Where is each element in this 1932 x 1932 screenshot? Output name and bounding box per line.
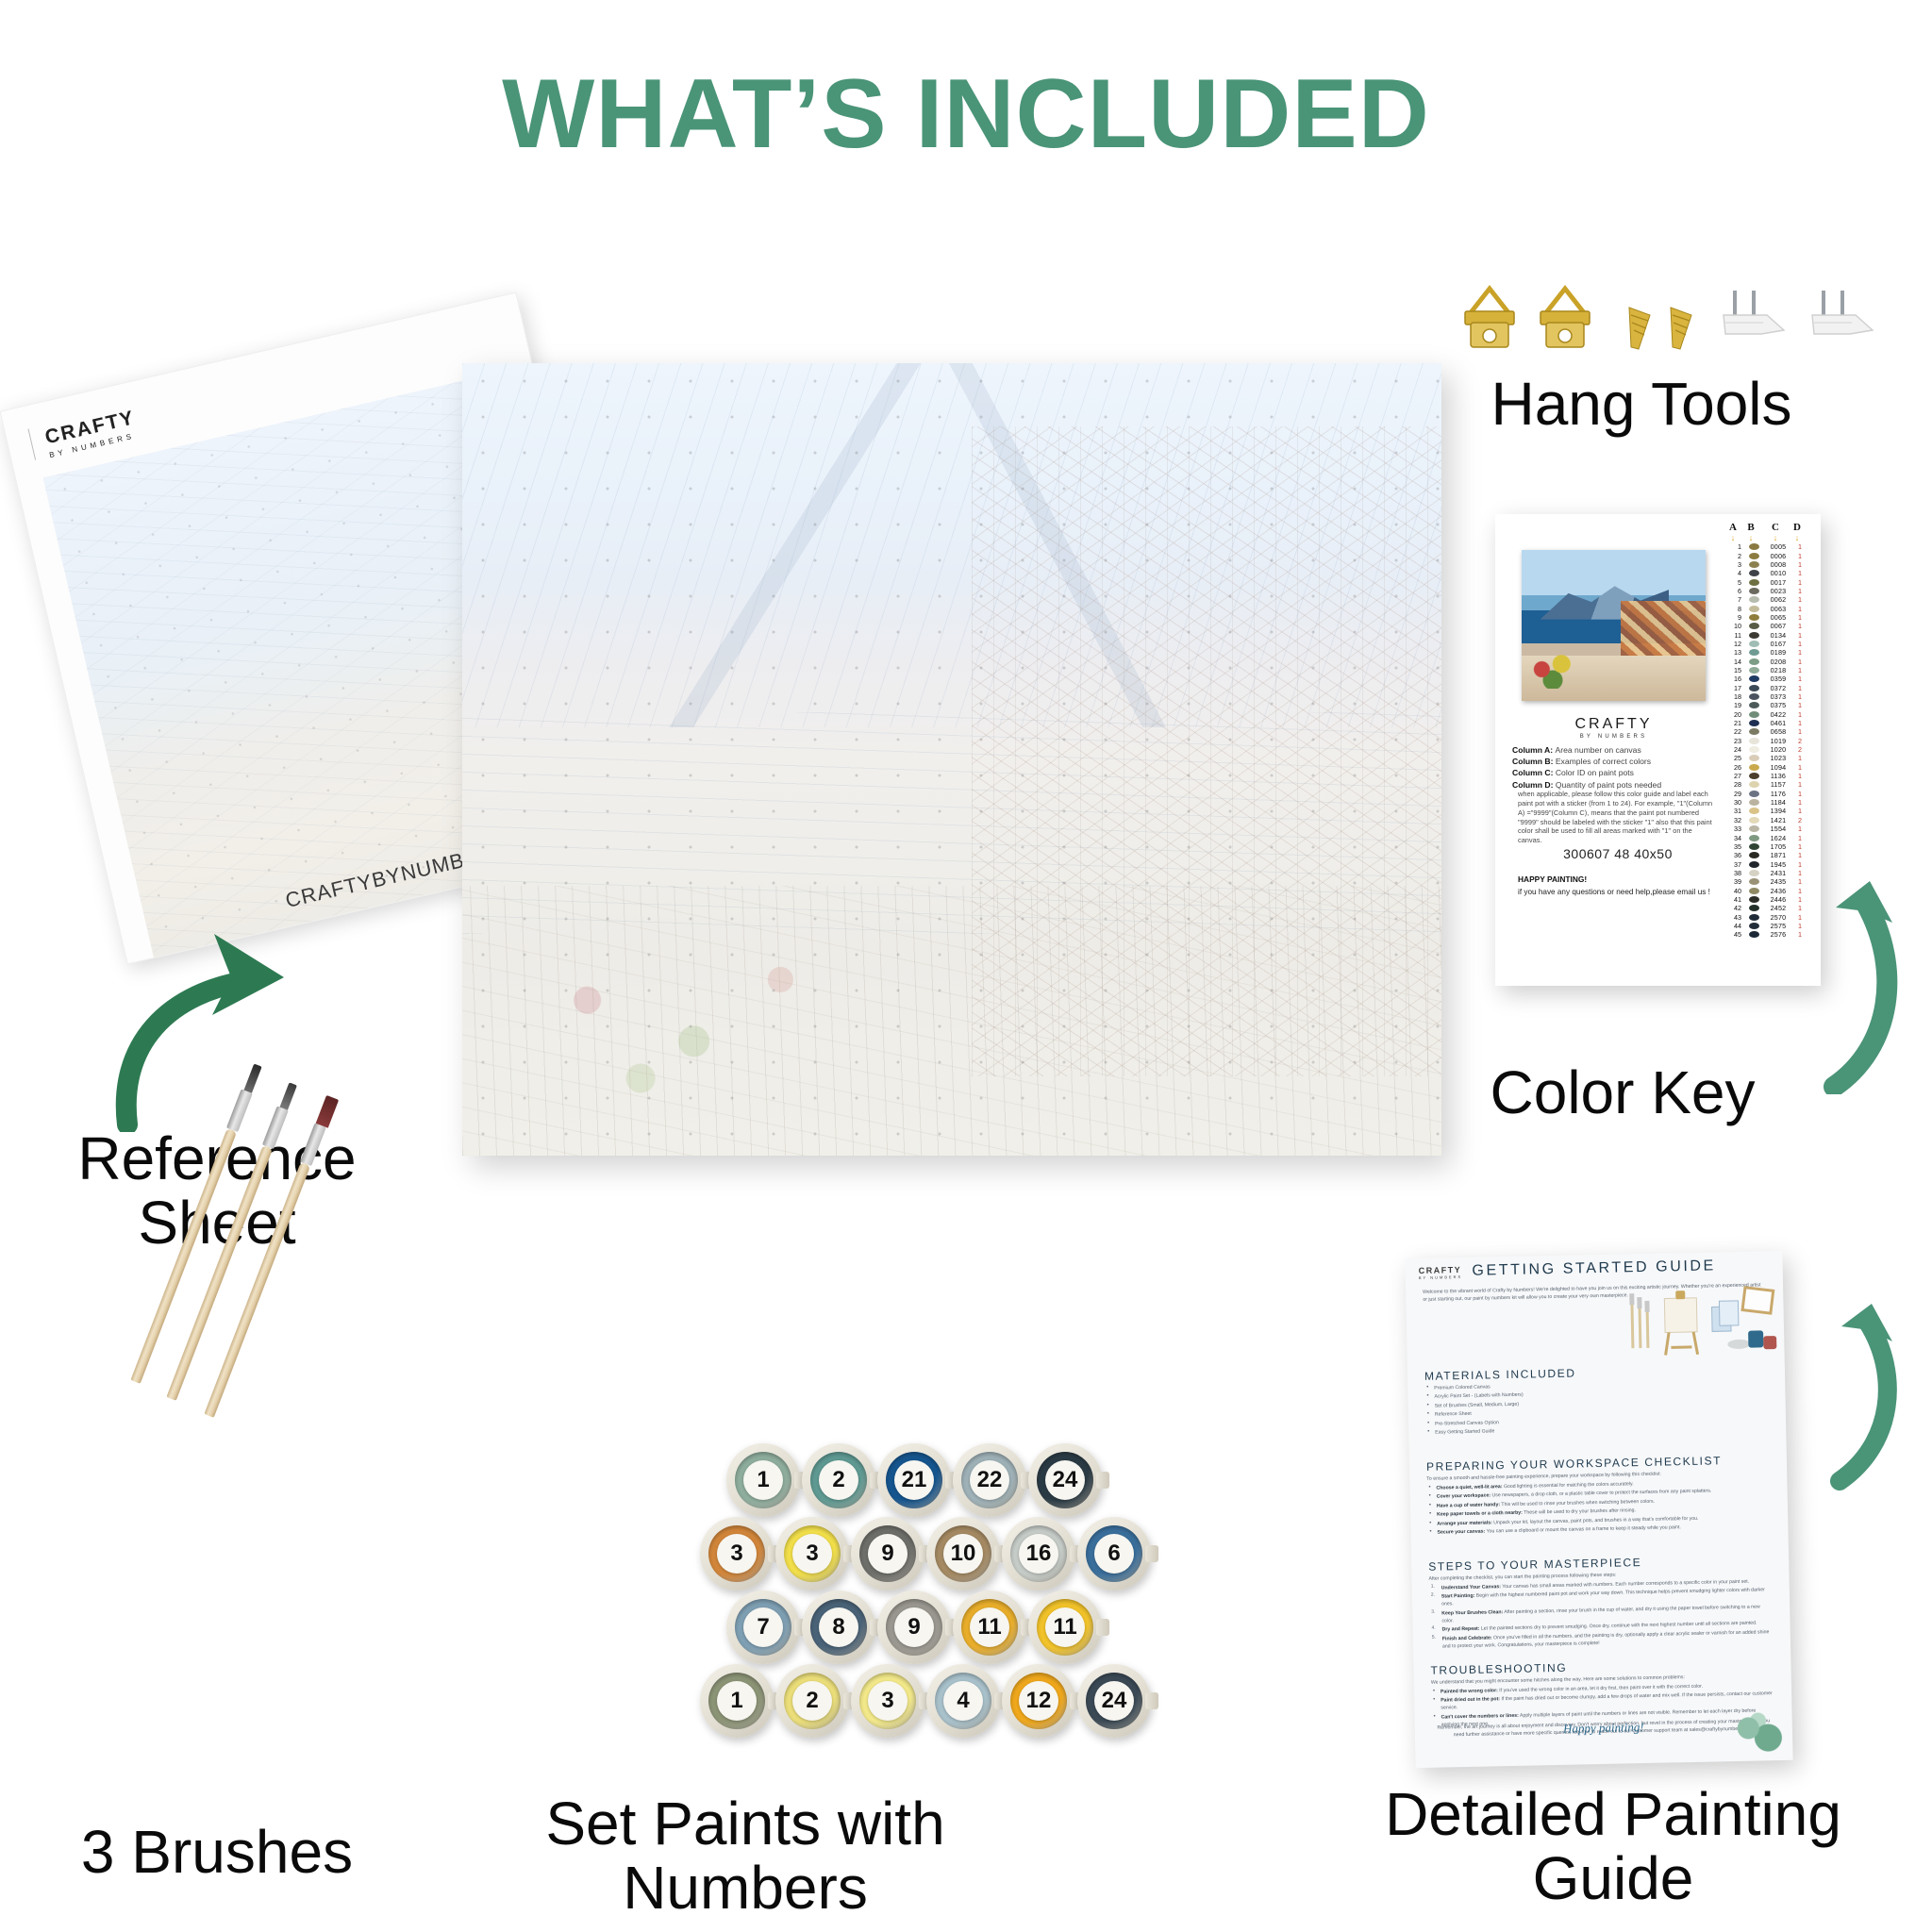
- paint-pot-number: 2: [792, 1681, 832, 1721]
- color-swatch: [1749, 641, 1759, 647]
- d-ring-hanger-icon: [1457, 283, 1522, 353]
- color-swatch: [1749, 632, 1759, 639]
- color-key-quantity: 2: [1793, 816, 1807, 824]
- color-key-quantity: 1: [1793, 727, 1807, 736]
- color-key-row: 900651: [1724, 613, 1811, 622]
- paint-pot: 24: [1077, 1664, 1151, 1738]
- color-key-color-id: 1184: [1763, 798, 1793, 807]
- color-key-row: 4024361: [1724, 886, 1811, 894]
- color-key-swatch-cell: [1744, 791, 1763, 797]
- brand-tagline: BY NUMBERS: [1522, 734, 1706, 740]
- color-key-row: 3517051: [1724, 842, 1811, 851]
- color-swatch: [1749, 896, 1759, 903]
- color-swatch: [1749, 570, 1759, 576]
- guide-illustrations: [1624, 1283, 1777, 1363]
- color-key-row: 1402081: [1724, 657, 1811, 665]
- color-swatch: [1749, 649, 1759, 656]
- color-swatch: [1749, 905, 1759, 911]
- color-key-swatch-cell: [1744, 843, 1763, 850]
- paints-label: Set Paints with Numbers: [472, 1792, 1019, 1921]
- paint-pot-number: 9: [894, 1607, 934, 1647]
- paint-pot: 4: [926, 1664, 1000, 1738]
- color-key-row: 3214212: [1724, 816, 1811, 824]
- color-key-quantity: 2: [1793, 745, 1807, 754]
- color-key-quantity: 1: [1793, 613, 1807, 622]
- color-key-swatch-cell: [1744, 905, 1763, 911]
- paint-pot: 24: [1028, 1443, 1102, 1517]
- paint-pot-number: 24: [1094, 1681, 1134, 1721]
- color-swatch: [1749, 773, 1759, 779]
- color-key-row: 1903751: [1724, 701, 1811, 709]
- color-key-quantity: 1: [1793, 842, 1807, 851]
- down-arrow-icon: ↓: [1760, 534, 1790, 542]
- color-key-area-number: 35: [1724, 842, 1744, 851]
- color-key-row: 3618711: [1724, 851, 1811, 859]
- paint-pot-number: 21: [894, 1460, 934, 1500]
- color-key-area-number: 4: [1724, 569, 1744, 577]
- color-key-swatch-cell: [1744, 888, 1763, 894]
- color-key-quantity: 1: [1793, 904, 1807, 912]
- paint-pot: 6: [1077, 1517, 1151, 1591]
- brass-screw-icon: [1625, 304, 1656, 353]
- color-key-row: 4224521: [1724, 904, 1811, 912]
- paint-pot-number: 6: [1094, 1534, 1134, 1574]
- color-key-color-id: 1176: [1763, 790, 1793, 798]
- color-key-swatch-cell: [1744, 658, 1763, 665]
- paint-pot: 1: [726, 1443, 800, 1517]
- color-key-area-number: 6: [1724, 587, 1744, 595]
- color-key-swatch-cell: [1744, 799, 1763, 806]
- color-key-row: 2911761: [1724, 790, 1811, 798]
- color-key-swatch-cell: [1744, 711, 1763, 718]
- color-key-swatch-cell: [1744, 738, 1763, 744]
- color-key-area-number: 16: [1724, 675, 1744, 683]
- color-key-color-id: 2435: [1763, 877, 1793, 886]
- color-key-column-legend: Column A: Area number on canvasColumn B:…: [1512, 744, 1722, 791]
- canvas-number-markers: [462, 363, 1441, 1156]
- color-key-color-id: 0208: [1763, 658, 1793, 666]
- color-key-legend-label: Column B:: [1512, 757, 1556, 766]
- color-key-area-number: 7: [1724, 595, 1744, 604]
- color-key-row: 800631: [1724, 604, 1811, 612]
- color-key-row: 600231: [1724, 587, 1811, 595]
- color-key-quantity: 1: [1793, 807, 1807, 815]
- color-key-area-number: 21: [1724, 719, 1744, 727]
- guide-section-list: Premium Colored CanvasAcrylic Paint Set …: [1424, 1377, 1769, 1437]
- color-key-quantity: 1: [1793, 895, 1807, 904]
- color-key-row: 2811571: [1724, 780, 1811, 789]
- color-swatch: [1749, 878, 1759, 885]
- color-key-quantity: 1: [1793, 631, 1807, 640]
- color-key-swatch-cell: [1744, 623, 1763, 629]
- color-key-row: 1703721: [1724, 684, 1811, 692]
- color-key-col-header: B: [1741, 522, 1760, 533]
- guide-section-list: Choose a quiet, well-lit area: Good ligh…: [1426, 1477, 1771, 1537]
- color-key-area-number: 8: [1724, 605, 1744, 613]
- color-swatch: [1749, 693, 1759, 700]
- color-key-color-id: 1020: [1763, 745, 1793, 754]
- color-key-color-id: 0461: [1763, 719, 1793, 727]
- color-key-card: CRAFTY BY NUMBERS Column A: Area number …: [1495, 514, 1821, 986]
- color-key-legend-row: Column A: Area number on canvas: [1512, 744, 1722, 756]
- brushes-label: 3 Brushes: [19, 1821, 415, 1885]
- color-key-color-id: 0005: [1763, 542, 1793, 551]
- color-swatch: [1749, 658, 1759, 665]
- color-key-swatch-cell: [1744, 931, 1763, 938]
- color-key-quantity: 1: [1793, 860, 1807, 869]
- color-key-quantity: 1: [1793, 552, 1807, 560]
- color-swatch: [1749, 561, 1759, 568]
- color-swatch: [1749, 728, 1759, 735]
- paint-pot: 3: [775, 1517, 849, 1591]
- color-key-color-id: 0065: [1763, 613, 1793, 622]
- color-swatch: [1749, 543, 1759, 550]
- color-key-area-number: 45: [1724, 930, 1744, 939]
- color-key-area-number: 11: [1724, 631, 1744, 640]
- color-key-row: 2206581: [1724, 727, 1811, 736]
- color-key-table-body: 1000512000613000814001015001716002317006…: [1724, 542, 1811, 939]
- color-key-row: 1502181: [1724, 666, 1811, 675]
- color-swatch: [1749, 553, 1759, 559]
- color-key-color-id: 0023: [1763, 587, 1793, 595]
- color-key-row: 2410202: [1724, 745, 1811, 754]
- paint-pot: 21: [877, 1443, 951, 1517]
- color-key-swatch-cell: [1744, 543, 1763, 550]
- color-key-quantity: 1: [1793, 772, 1807, 780]
- paint-pot-number: 16: [1019, 1534, 1058, 1574]
- color-key-row: 700621: [1724, 595, 1811, 604]
- color-key-row: 3416241: [1724, 833, 1811, 841]
- color-key-quantity: 1: [1793, 798, 1807, 807]
- color-swatch: [1749, 843, 1759, 850]
- color-key-label: Color Key: [1358, 1061, 1887, 1125]
- color-key-row: 100051: [1724, 542, 1811, 551]
- color-key-area-number: 37: [1724, 860, 1744, 869]
- canvas-stack-illustration-icon: [1711, 1301, 1739, 1332]
- color-key-quantity: 1: [1793, 569, 1807, 577]
- guide-label: Detailed Painting Guide: [1311, 1783, 1915, 1911]
- paint-pot-number: 12: [1019, 1681, 1058, 1721]
- color-swatch: [1749, 817, 1759, 824]
- color-key-swatch-cell: [1744, 852, 1763, 858]
- color-key-color-id: 1394: [1763, 807, 1793, 815]
- color-key-quantity: 1: [1793, 780, 1807, 789]
- color-key-row: 4124461: [1724, 895, 1811, 904]
- color-key-legend-text: Color ID on paint pots: [1556, 768, 1634, 777]
- color-key-color-id: 0218: [1763, 666, 1793, 675]
- color-key-row: 1803731: [1724, 692, 1811, 701]
- paint-pot-tab: [1096, 1619, 1109, 1636]
- color-key-color-id: 0017: [1763, 578, 1793, 587]
- paint-pot-number: 3: [792, 1534, 832, 1574]
- color-key-area-number: 36: [1724, 851, 1744, 859]
- getting-started-guide: CRAFTY BY NUMBERS GETTING STARTED GUIDE …: [1405, 1251, 1792, 1768]
- brush-set: [113, 1014, 434, 1373]
- color-key-row: 400101: [1724, 569, 1811, 577]
- color-swatch: [1749, 623, 1759, 629]
- color-key-swatch-cell: [1744, 641, 1763, 647]
- color-key-row: 2004221: [1724, 710, 1811, 719]
- color-key-quantity: 2: [1793, 737, 1807, 745]
- color-key-swatch-cell: [1744, 685, 1763, 691]
- color-key-row: 500171: [1724, 577, 1811, 586]
- color-key-brand: CRAFTY BY NUMBERS: [1522, 716, 1706, 740]
- color-key-row: 4325701: [1724, 912, 1811, 921]
- color-key-area-number: 18: [1724, 692, 1744, 701]
- color-key-legend-row: Column D: Quantity of paint pots needed: [1512, 779, 1722, 791]
- color-key-color-id: 0372: [1763, 684, 1793, 692]
- paint-by-numbers-canvas: [462, 363, 1441, 1156]
- color-key-row: 2510231: [1724, 754, 1811, 762]
- color-key-quantity: 1: [1793, 869, 1807, 877]
- reference-sheet-logo: CRAFTY BY NUMBERS: [43, 407, 141, 459]
- color-key-quantity: 1: [1793, 887, 1807, 895]
- color-key-color-id: 0006: [1763, 552, 1793, 560]
- color-key-color-id: 2452: [1763, 904, 1793, 912]
- color-key-swatch-cell: [1744, 870, 1763, 876]
- down-arrow-icon: ↓: [1724, 534, 1741, 542]
- brush-illustration-icon: [1629, 1293, 1650, 1348]
- color-key-area-number: 19: [1724, 701, 1744, 709]
- paint-pot: 8: [802, 1591, 875, 1664]
- paint-pot: 11: [953, 1591, 1026, 1664]
- color-key-quantity: 1: [1793, 877, 1807, 886]
- color-swatch: [1749, 588, 1759, 594]
- paint-pot-number: 7: [743, 1607, 783, 1647]
- color-key-area-number: 13: [1724, 648, 1744, 657]
- page-title: WHAT’S INCLUDED: [0, 58, 1932, 171]
- color-key-area-number: 12: [1724, 640, 1744, 648]
- color-key-color-id: 2570: [1763, 913, 1793, 922]
- color-key-swatch-cell: [1744, 720, 1763, 726]
- color-key-quantity: 1: [1793, 578, 1807, 587]
- color-key-row: 200061: [1724, 551, 1811, 559]
- color-key-quantity: 1: [1793, 692, 1807, 701]
- paint-pot-number: 9: [868, 1534, 908, 1574]
- color-key-row: 1301891: [1724, 648, 1811, 657]
- color-key-swatch-cell: [1744, 835, 1763, 841]
- color-key-color-id: 1136: [1763, 772, 1793, 780]
- canvas-artwork: [462, 363, 1441, 1156]
- color-key-swatch-cell: [1744, 561, 1763, 568]
- color-swatch: [1749, 667, 1759, 674]
- color-key-col-header: C: [1760, 522, 1790, 533]
- paint-pot-number: 1: [743, 1460, 783, 1500]
- color-key-area-number: 42: [1724, 904, 1744, 912]
- color-key-swatch-cell: [1744, 781, 1763, 788]
- color-key-area-number: 15: [1724, 666, 1744, 675]
- color-key-swatch-cell: [1744, 825, 1763, 832]
- color-key-happy-painting: HAPPY PAINTING!: [1518, 874, 1735, 884]
- color-key-area-number: 29: [1724, 790, 1744, 798]
- color-swatch: [1749, 702, 1759, 708]
- color-key-quantity: 1: [1793, 595, 1807, 604]
- paint-pot: 22: [953, 1443, 1026, 1517]
- color-swatch: [1749, 738, 1759, 744]
- color-key-swatch-cell: [1744, 861, 1763, 868]
- color-key-color-id: 1624: [1763, 834, 1793, 842]
- color-key-area-number: 10: [1724, 622, 1744, 630]
- color-swatch: [1749, 923, 1759, 929]
- color-key-row: 1603591: [1724, 675, 1811, 683]
- color-key-quantity: 1: [1793, 922, 1807, 930]
- guide-section: STEPS TO YOUR MASTERPIECEAfter completin…: [1428, 1553, 1774, 1651]
- color-key-row: 3113941: [1724, 807, 1811, 815]
- color-key-color-id: 0189: [1763, 648, 1793, 657]
- color-swatch: [1749, 888, 1759, 894]
- color-key-area-number: 3: [1724, 560, 1744, 569]
- color-key-color-id: 1945: [1763, 860, 1793, 869]
- color-key-color-id: 0008: [1763, 560, 1793, 569]
- color-key-area-number: 1: [1724, 542, 1744, 551]
- color-key-swatch-cell: [1744, 755, 1763, 761]
- color-key-color-id: 1554: [1763, 824, 1793, 833]
- brass-screw-icon: [1667, 304, 1697, 353]
- color-key-color-id: 0010: [1763, 569, 1793, 577]
- color-key-swatch-cell: [1744, 553, 1763, 559]
- color-key-area-number: 32: [1724, 816, 1744, 824]
- color-key-swatch-cell: [1744, 614, 1763, 621]
- color-key-swatch-cell: [1744, 878, 1763, 885]
- paint-pot-number: 4: [943, 1681, 983, 1721]
- color-key-color-id: 0658: [1763, 727, 1793, 736]
- down-arrow-icon: ↓: [1790, 534, 1804, 542]
- color-key-swatch-cell: [1744, 896, 1763, 903]
- paint-pot: 10: [926, 1517, 1000, 1591]
- color-key-area-number: 38: [1724, 869, 1744, 877]
- color-key-header-arrows: ↓↓↓↓: [1724, 534, 1811, 542]
- color-key-area-number: 40: [1724, 887, 1744, 895]
- color-key-color-id: 0134: [1763, 631, 1793, 640]
- color-key-row: 3719451: [1724, 859, 1811, 868]
- color-key-quantity: 1: [1793, 542, 1807, 551]
- color-key-legend-text: Area number on canvas: [1556, 745, 1641, 755]
- hang-tools-group: [1457, 283, 1835, 358]
- infographic-root: WHAT’S INCLUDED CRAFTY BY NUMBERS CRAFTY…: [0, 0, 1932, 1932]
- color-swatch: [1749, 720, 1759, 726]
- color-key-swatch-cell: [1744, 817, 1763, 824]
- color-key-legend-text: Quantity of paint pots needed: [1556, 780, 1661, 790]
- color-key-quantity: 1: [1793, 851, 1807, 859]
- color-key-area-number: 25: [1724, 754, 1744, 762]
- color-key-swatch-cell: [1744, 808, 1763, 814]
- arrow-to-guide: [1821, 1302, 1924, 1491]
- color-key-area-number: 39: [1724, 877, 1744, 886]
- color-swatch: [1749, 764, 1759, 771]
- guide-title: GETTING STARTED GUIDE: [1406, 1257, 1783, 1281]
- hang-tools-label: Hang Tools: [1396, 373, 1887, 437]
- color-swatch: [1749, 835, 1759, 841]
- color-key-quantity: 1: [1793, 701, 1807, 709]
- color-key-quantity: 1: [1793, 666, 1807, 675]
- color-key-color-id: 1421: [1763, 816, 1793, 824]
- guide-section: PREPARING YOUR WORKSPACE CHECKLISTTo ens…: [1426, 1453, 1772, 1537]
- color-swatch: [1749, 755, 1759, 761]
- color-key-quantity: 1: [1793, 684, 1807, 692]
- color-key-swatch-cell: [1744, 596, 1763, 603]
- color-key-swatch-cell: [1744, 702, 1763, 708]
- color-key-quantity: 1: [1793, 560, 1807, 569]
- color-swatch: [1749, 870, 1759, 876]
- brand-name: CRAFTY: [1522, 716, 1706, 733]
- color-key-area-number: 2: [1724, 552, 1744, 560]
- paint-pot: 11: [1028, 1591, 1102, 1664]
- color-key-swatch-cell: [1744, 649, 1763, 656]
- color-key-legend-row: Column C: Color ID on paint pots: [1512, 767, 1722, 778]
- paint-pot-number: 24: [1045, 1460, 1085, 1500]
- color-key-reference-photo: [1522, 550, 1706, 701]
- color-key-color-id: 1705: [1763, 842, 1793, 851]
- color-key-swatch-cell: [1744, 914, 1763, 921]
- color-key-swatch-cell: [1744, 632, 1763, 639]
- color-swatch: [1749, 614, 1759, 621]
- paint-pots-illustration-icon: [1727, 1330, 1776, 1350]
- easel-illustration-icon: [1664, 1291, 1697, 1356]
- color-key-quantity: 1: [1793, 754, 1807, 762]
- color-key-col-header: A: [1724, 522, 1741, 533]
- color-swatch: [1749, 914, 1759, 921]
- color-key-row: 3824311: [1724, 869, 1811, 877]
- paint-pot-number: 22: [970, 1460, 1009, 1500]
- color-key-quantity: 1: [1793, 763, 1807, 772]
- color-key-area-number: 26: [1724, 763, 1744, 772]
- color-key-swatch-cell: [1744, 728, 1763, 735]
- color-key-color-id: 0062: [1763, 595, 1793, 604]
- color-key-quantity: 1: [1793, 710, 1807, 719]
- color-key-quantity: 1: [1793, 790, 1807, 798]
- color-key-table: ABCD ↓↓↓↓ 100051200061300081400101500171…: [1724, 522, 1811, 939]
- paint-pot-number: 2: [819, 1460, 858, 1500]
- color-key-swatch-cell: [1744, 923, 1763, 929]
- color-key-color-id: 1094: [1763, 763, 1793, 772]
- color-key-swatch-cell: [1744, 773, 1763, 779]
- color-swatch: [1749, 579, 1759, 586]
- paint-pot-number: 1: [717, 1681, 757, 1721]
- color-key-area-number: 27: [1724, 772, 1744, 780]
- color-swatch: [1749, 781, 1759, 788]
- paint-pot: 3: [851, 1664, 924, 1738]
- color-key-area-number: 24: [1724, 745, 1744, 754]
- color-key-sku: 300607 48 40x50: [1518, 846, 1718, 861]
- paint-pot: 12: [1002, 1664, 1075, 1738]
- color-key-row: 1101341: [1724, 630, 1811, 639]
- color-key-area-number: 23: [1724, 737, 1744, 745]
- color-key-swatch-cell: [1744, 570, 1763, 576]
- color-key-legend-text: Examples of correct colors: [1556, 757, 1651, 766]
- color-key-swatch-cell: [1744, 667, 1763, 674]
- guide-section-list: Understand Your Canvas: Your canvas has …: [1429, 1577, 1774, 1651]
- color-key-swatch-cell: [1744, 693, 1763, 700]
- paint-pot-number: 8: [819, 1607, 858, 1647]
- color-key-row: 4525761: [1724, 930, 1811, 939]
- color-key-row: 2610941: [1724, 763, 1811, 772]
- color-key-swatch-cell: [1744, 746, 1763, 753]
- color-key-row: 1201671: [1724, 640, 1811, 648]
- color-key-swatch-cell: [1744, 606, 1763, 612]
- color-key-color-id: 0373: [1763, 692, 1793, 701]
- color-key-area-number: 28: [1724, 780, 1744, 789]
- color-key-color-id: 2576: [1763, 930, 1793, 939]
- paint-pot-number: 11: [1045, 1607, 1085, 1647]
- color-key-col-header: D: [1790, 522, 1804, 533]
- color-key-color-id: 1023: [1763, 754, 1793, 762]
- paint-pot-set: 1221222433910166789111112341224: [700, 1443, 1153, 1717]
- color-key-swatch-cell: [1744, 588, 1763, 594]
- paint-pot: 1: [700, 1664, 774, 1738]
- color-key-swatch-cell: [1744, 675, 1763, 682]
- color-key-row: 3011841: [1724, 798, 1811, 807]
- color-key-area-number: 34: [1724, 834, 1744, 842]
